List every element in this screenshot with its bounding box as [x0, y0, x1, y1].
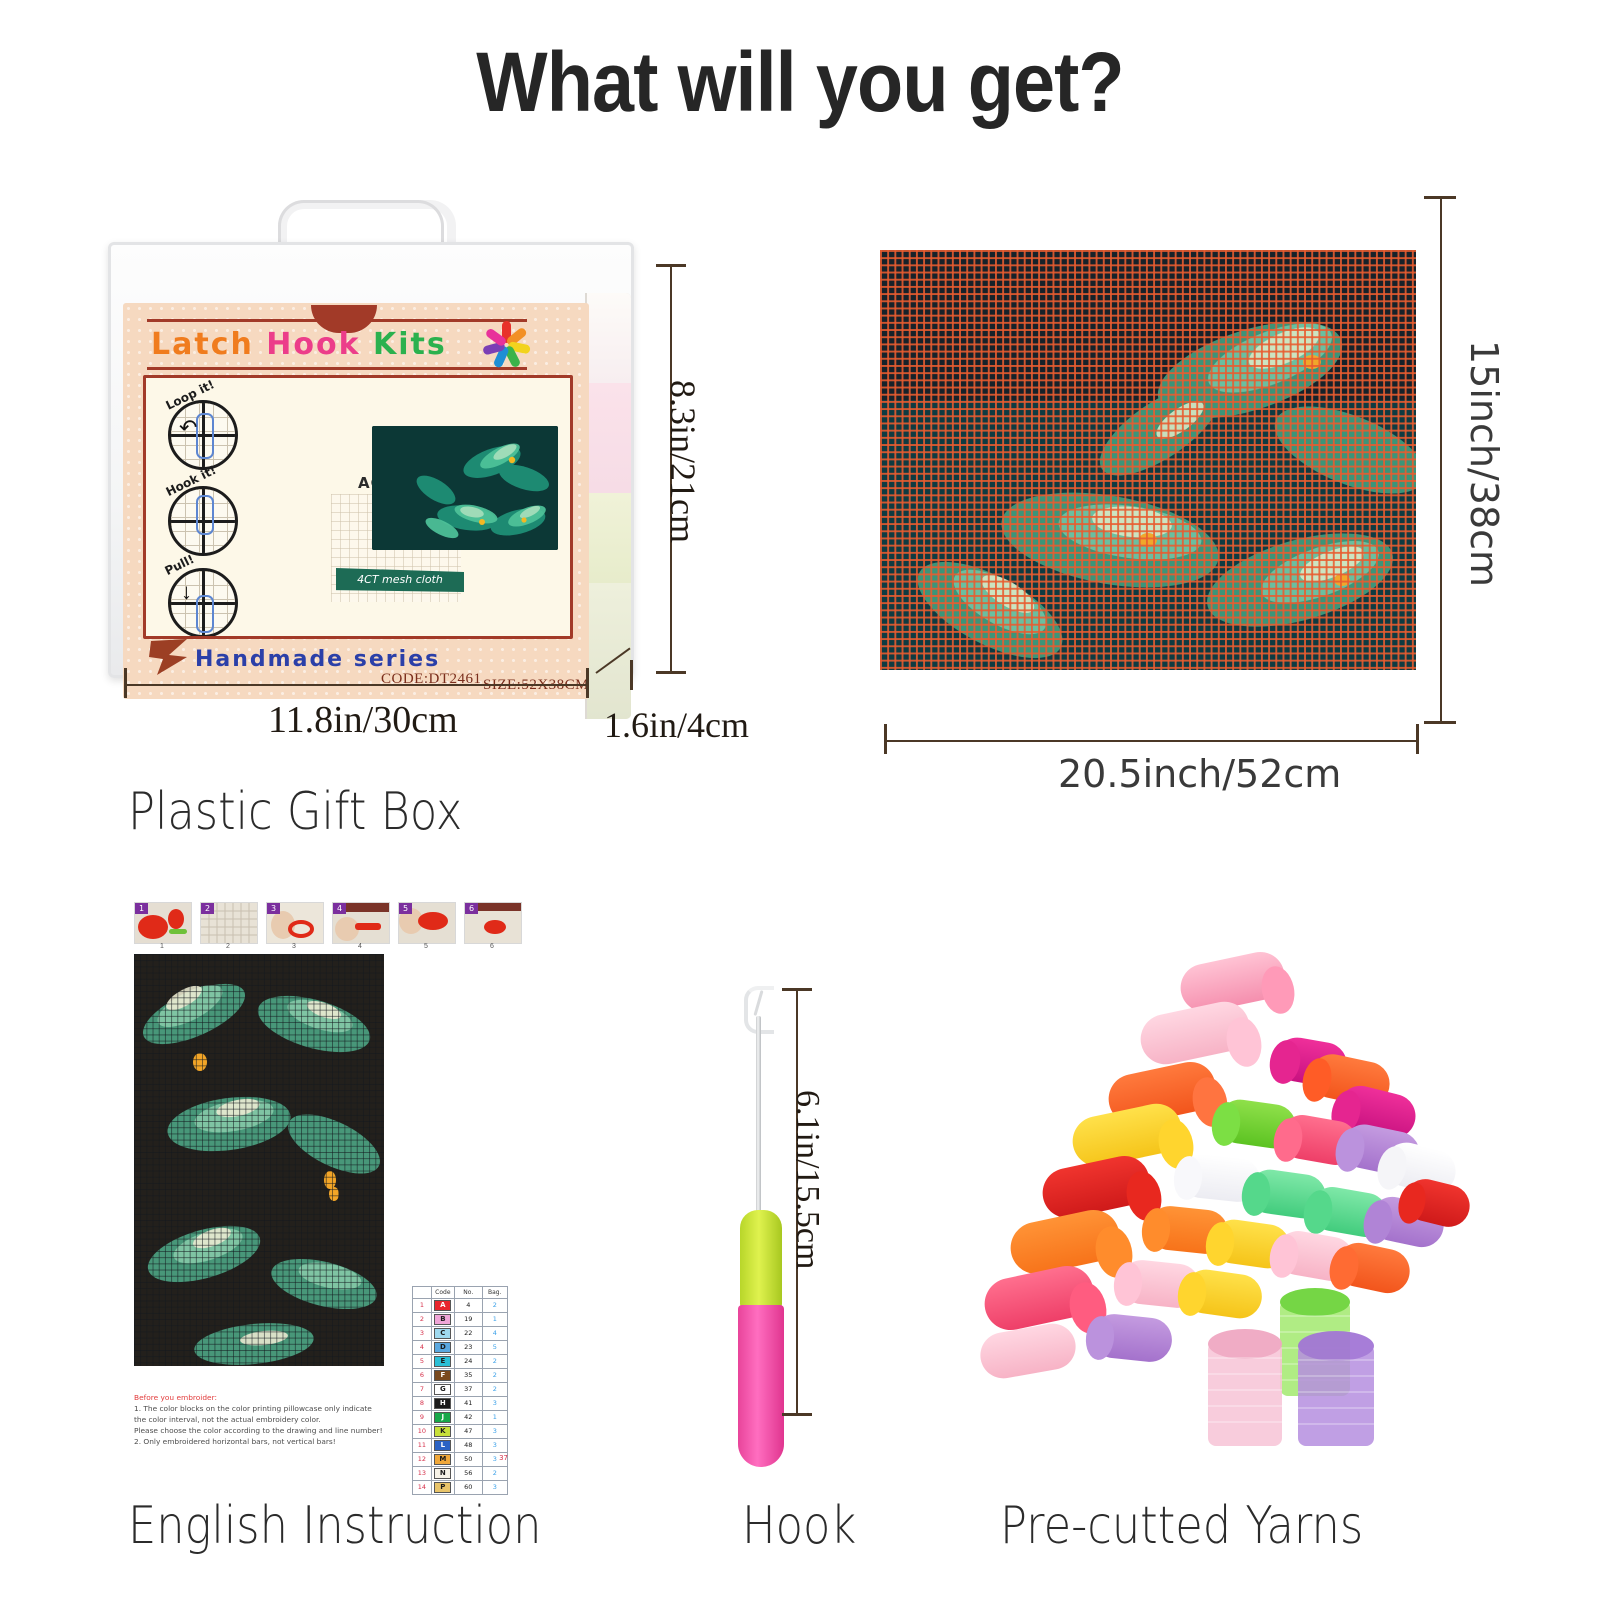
cell-bag: 3: [482, 1481, 507, 1495]
box-height-label: 8.3in/21cm: [662, 380, 704, 543]
color-swatch: B: [434, 1314, 451, 1325]
cell-code: D: [431, 1341, 454, 1355]
cell-index: 10: [413, 1425, 432, 1439]
table-row: 10K473: [413, 1425, 508, 1439]
cell-bag: 3: [482, 1439, 507, 1453]
cell-code: P: [431, 1481, 454, 1495]
plastic-box: Latch Hook Kits Loop it!: [108, 242, 634, 678]
cell-bag: 1: [482, 1411, 507, 1425]
succulent-photo-svg: [372, 426, 558, 550]
table-row: 1A42: [413, 1299, 508, 1313]
step-thumbnail: 3: [266, 902, 324, 944]
color-table-total: 37: [412, 1454, 513, 1462]
color-swatch: A: [434, 1300, 451, 1311]
color-swatch: H: [434, 1398, 451, 1409]
cell-index: 5: [413, 1355, 432, 1369]
note-line-4: 2. Only embroidered horizontal bars, not…: [134, 1437, 336, 1446]
table-row: 8H413: [413, 1397, 508, 1411]
hook-needle: [756, 1016, 761, 1216]
chart-grid-overlay: [134, 954, 384, 1366]
note-line-1: 1. The color blocks on the color printin…: [134, 1404, 372, 1413]
cell-index: 11: [413, 1439, 432, 1453]
note-line-2: the color interval, not the actual embro…: [134, 1415, 321, 1424]
th-code: Code: [431, 1287, 454, 1299]
caption-english-instruction: English Instruction: [128, 1496, 541, 1556]
table-row: 7G372: [413, 1383, 508, 1397]
color-swatch: K: [434, 1426, 451, 1437]
table-row: 13N562: [413, 1467, 508, 1481]
cell-bag: 3: [482, 1397, 507, 1411]
cell-code: C: [431, 1327, 454, 1341]
color-swatch: C: [434, 1328, 451, 1339]
box-front-print: Latch Hook Kits Loop it!: [123, 303, 589, 699]
cell-bag: 2: [482, 1355, 507, 1369]
mesh-grid-overlay: [880, 250, 1416, 670]
note-title: Before you embroider:: [134, 1392, 404, 1403]
cell-index: 2: [413, 1313, 432, 1327]
cell-index: 3: [413, 1327, 432, 1341]
cell-bag: 2: [482, 1467, 507, 1481]
step-thumbnail: 5: [398, 902, 456, 944]
canvas-height-label: 15inch/38cm: [1462, 340, 1506, 587]
cell-no: 4: [454, 1299, 482, 1313]
color-swatch: E: [434, 1356, 451, 1367]
color-swatch: P: [434, 1482, 451, 1493]
thumb-badge: 4: [333, 903, 346, 914]
page-title: What will you get?: [80, 34, 1520, 131]
box-depth-label: 1.6in/4cm: [604, 704, 749, 746]
cell-code: F: [431, 1369, 454, 1383]
cell-code: B: [431, 1313, 454, 1327]
brand-word-hook: Hook: [266, 327, 360, 362]
step-circle-pull: ↓: [168, 568, 238, 638]
table-row: 3C224: [413, 1327, 508, 1341]
cell-no: 56: [454, 1467, 482, 1481]
cell-index: 1: [413, 1299, 432, 1313]
step-circle-loop: ↶: [168, 400, 238, 470]
caption-hook: Hook: [742, 1496, 856, 1556]
gift-box-figure: Latch Hook Kits Loop it!: [108, 196, 668, 696]
instruction-panel: Loop it! ↶ Hook it! Pull!: [143, 375, 573, 639]
cell-index: 9: [413, 1411, 432, 1425]
hook-length-label: 6.1in/15.5cm: [788, 1090, 826, 1269]
table-row: 4D235: [413, 1341, 508, 1355]
cell-code: J: [431, 1411, 454, 1425]
cell-code: H: [431, 1397, 454, 1411]
color-code-table: Code No. Bag. 1A422B1913C2244D2355E2426F…: [412, 1286, 508, 1495]
cell-code: A: [431, 1299, 454, 1313]
cell-bag: 2: [482, 1369, 507, 1383]
cell-no: 35: [454, 1369, 482, 1383]
caption-pre-cutted-yarns: Pre-cutted Yarns: [1000, 1496, 1363, 1556]
thumb-badge: 6: [465, 903, 478, 914]
table-row: 11L483: [413, 1439, 508, 1453]
table-header-row: Code No. Bag.: [413, 1287, 508, 1299]
cell-index: 6: [413, 1369, 432, 1383]
cell-code: L: [431, 1439, 454, 1453]
cell-no: 60: [454, 1481, 482, 1495]
thumb-number: 3: [266, 943, 322, 950]
cell-no: 42: [454, 1411, 482, 1425]
thumb-badge: 5: [399, 903, 412, 914]
cell-code: K: [431, 1425, 454, 1439]
thumb-number: 5: [398, 943, 454, 950]
step-thumbnail: 4: [332, 902, 390, 944]
product-photo: [372, 426, 558, 550]
pattern-chart: [134, 954, 384, 1366]
thumb-number: 1: [134, 943, 190, 950]
series-label: Handmade series: [195, 647, 440, 672]
table-row: 9J421: [413, 1411, 508, 1425]
cell-no: 41: [454, 1397, 482, 1411]
pinwheel-logo-icon: [478, 317, 534, 373]
th-bag: Bag.: [482, 1287, 507, 1299]
step-thumbnail: 2: [200, 902, 258, 944]
cell-code: E: [431, 1355, 454, 1369]
color-swatch: D: [434, 1342, 451, 1353]
cell-index: 4: [413, 1341, 432, 1355]
cell-no: 37: [454, 1383, 482, 1397]
cell-no: 47: [454, 1425, 482, 1439]
cell-no: 24: [454, 1355, 482, 1369]
yarn-bundles-svg: [980, 950, 1470, 1450]
brand-word-latch: Latch: [151, 327, 254, 362]
step-circle-hook: [168, 486, 238, 556]
cell-index: 14: [413, 1481, 432, 1495]
cell-no: 19: [454, 1313, 482, 1327]
cell-no: 23: [454, 1341, 482, 1355]
step-thumbnail: 1: [134, 902, 192, 944]
brand-word-kits: Kits: [373, 327, 447, 362]
infographic-page: What will you get? Latch Hook Kits: [0, 0, 1600, 1600]
cell-code: G: [431, 1383, 454, 1397]
english-instruction-figure: 1 1 2 2 3 3 4 4 5 5: [128, 898, 518, 1478]
thumb-number: 4: [332, 943, 388, 950]
th-no: No.: [454, 1287, 482, 1299]
step-thumbnail: 6: [464, 902, 522, 944]
cell-bag: 2: [482, 1383, 507, 1397]
hook-handle-lower: [738, 1305, 784, 1467]
brand-title: Latch Hook Kits: [151, 327, 447, 362]
thumb-number: 2: [200, 943, 256, 950]
color-swatch: J: [434, 1412, 451, 1423]
cell-bag: 1: [482, 1313, 507, 1327]
cell-index: 8: [413, 1397, 432, 1411]
cell-bag: 2: [482, 1299, 507, 1313]
color-swatch: G: [434, 1384, 451, 1395]
handmade-arrow-icon: [147, 635, 193, 679]
hook-figure: [700, 960, 870, 1460]
caption-plastic-gift-box: Plastic Gift Box: [128, 782, 462, 842]
color-swatch: N: [434, 1468, 451, 1479]
yarn-pile-figure: [980, 950, 1470, 1450]
cell-code: N: [431, 1467, 454, 1481]
printed-mesh-canvas: [880, 250, 1416, 670]
step-thumbnail-strip: 1 1 2 2 3 3 4 4 5 5: [134, 902, 514, 946]
cell-no: 22: [454, 1327, 482, 1341]
color-swatch: L: [434, 1440, 451, 1451]
note-line-3: Please choose the color according to the…: [134, 1426, 383, 1435]
cell-index: 13: [413, 1467, 432, 1481]
cell-index: 7: [413, 1383, 432, 1397]
thumb-badge: 2: [201, 903, 214, 914]
mesh-ribbon-label: 4CT mesh cloth: [336, 568, 464, 592]
cell-bag: 5: [482, 1341, 507, 1355]
table-row: 5E242: [413, 1355, 508, 1369]
thumb-badge: 1: [135, 903, 148, 914]
cell-bag: 3: [482, 1425, 507, 1439]
mesh-canvas-figure: [880, 250, 1416, 670]
box-width-label: 11.8in/30cm: [268, 698, 458, 742]
table-row: 6F352: [413, 1369, 508, 1383]
th-index: [413, 1287, 432, 1299]
canvas-width-label: 20.5inch/52cm: [1058, 752, 1341, 796]
cell-bag: 4: [482, 1327, 507, 1341]
before-you-embroider-note: Before you embroider: 1. The color block…: [134, 1392, 404, 1448]
box-spine: [585, 293, 631, 719]
table-row: 2B191: [413, 1313, 508, 1327]
hook-handle-upper: [740, 1210, 782, 1308]
thumb-number: 6: [464, 943, 520, 950]
cell-no: 48: [454, 1439, 482, 1453]
table-row: 14P603: [413, 1481, 508, 1495]
thumb-badge: 3: [267, 903, 280, 914]
color-swatch: F: [434, 1370, 451, 1381]
